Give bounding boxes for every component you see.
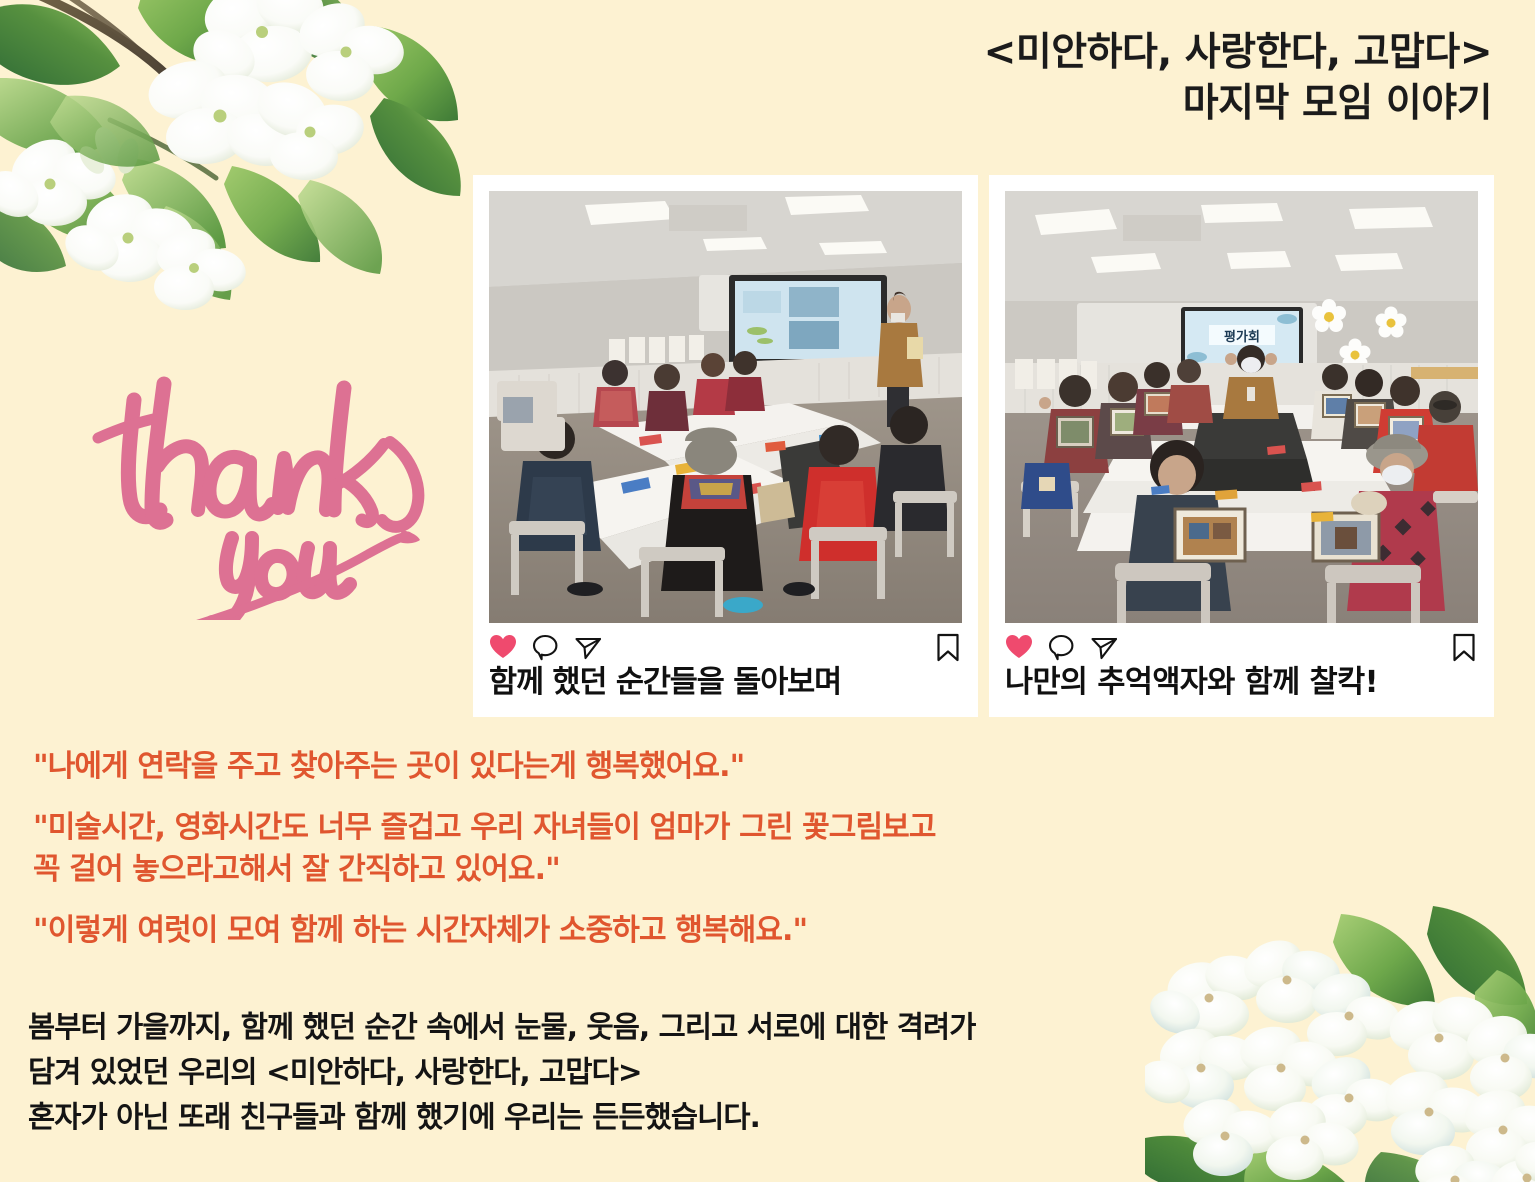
- photo-meeting-room-presentation: [489, 191, 962, 623]
- svg-text:평가회: 평가회: [1224, 329, 1260, 345]
- photo-caption-right: 나만의 추억액자와 함께 찰칵!: [1005, 665, 1478, 700]
- quote-2-line-2: 꼭 걸어 놓으라고해서 잘 간직하고 있어요.": [33, 849, 1333, 892]
- participant-quotes: "나에게 연락을 주고 찾아주는 곳이 있다는게 행복했어요." "미술시간, …: [33, 746, 1333, 970]
- share-icon[interactable]: [1090, 634, 1118, 661]
- quote-2-line-1: "미술시간, 영화시간도 너무 즐겁고 우리 자녀들이 엄마가 그린 꽃그림보고: [33, 807, 1333, 850]
- like-icon[interactable]: [489, 634, 517, 660]
- photo-caption-left: 함께 했던 순간들을 돌아보며: [489, 665, 962, 700]
- quote-item-2: "미술시간, 영화시간도 너무 즐겁고 우리 자녀들이 엄마가 그린 꽃그림보고…: [33, 807, 1333, 892]
- quote-1-line-1: "나에게 연락을 주고 찾아주는 곳이 있다는게 행복했어요.": [33, 746, 1333, 789]
- share-icon[interactable]: [574, 634, 602, 661]
- poster-canvas: <미안하다, 사랑한다, 고맙다> 마지막 모임 이야기 thank you: [0, 0, 1535, 1182]
- comment-icon[interactable]: [532, 634, 559, 661]
- page-title-line-2: 마지막 모임 이야기: [984, 79, 1492, 130]
- closing-line-2: 담겨 있었던 우리의 <미안하다, 사랑한다, 고맙다>: [28, 1050, 1348, 1095]
- bookmark-icon[interactable]: [936, 633, 960, 662]
- comment-icon[interactable]: [1048, 634, 1075, 661]
- thank-you-script-art: thank you: [72, 360, 482, 620]
- photo-post-card-right[interactable]: 평가회: [989, 175, 1494, 717]
- photo-post-card-left[interactable]: 함께 했던 순간들을 돌아보며: [473, 175, 978, 717]
- page-title: <미안하다, 사랑한다, 고맙다> 마지막 모임 이야기: [984, 28, 1492, 129]
- photo-group-with-memory-frames: 평가회: [1005, 191, 1478, 623]
- closing-paragraph: 봄부터 가을까지, 함께 했던 순간 속에서 눈물, 웃음, 그리고 서로에 대…: [28, 1005, 1348, 1139]
- like-icon[interactable]: [1005, 634, 1033, 660]
- quote-item-1: "나에게 연락을 주고 찾아주는 곳이 있다는게 행복했어요.": [33, 746, 1333, 789]
- bookmark-icon[interactable]: [1452, 633, 1476, 662]
- closing-line-3: 혼자가 아닌 또래 친구들과 함께 했기에 우리는 든든했습니다.: [28, 1095, 1348, 1140]
- quote-item-3: "이렇게 여럿이 모여 함께 하는 시간자체가 소중하고 행복해요.": [33, 910, 1333, 953]
- floral-decoration-top-left: [0, 0, 480, 360]
- quote-3-line-1: "이렇게 여럿이 모여 함께 하는 시간자체가 소중하고 행복해요.": [33, 910, 1333, 953]
- closing-line-1: 봄부터 가을까지, 함께 했던 순간 속에서 눈물, 웃음, 그리고 서로에 대…: [28, 1005, 1348, 1050]
- post-actions-right: [1005, 632, 1478, 662]
- page-title-line-1: <미안하다, 사랑한다, 고맙다>: [984, 28, 1492, 79]
- post-actions-left: [489, 632, 962, 662]
